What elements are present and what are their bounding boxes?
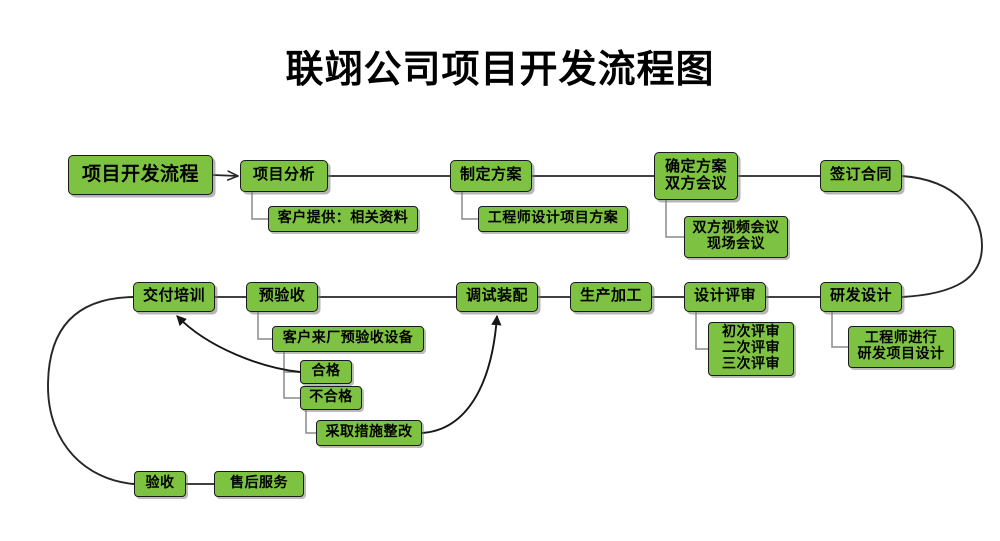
- node-root[interactable]: 项目开发流程: [68, 155, 213, 195]
- node-rnd-design[interactable]: 研发设计: [820, 282, 902, 312]
- node-debug-assembly[interactable]: 调试装配: [456, 282, 538, 312]
- elbow-confirm-leaf: [666, 200, 684, 237]
- elbow-pass: [284, 352, 300, 372]
- leaf-customer-onsite-pre-acceptance[interactable]: 客户来厂预验收设备: [272, 326, 424, 352]
- wire-rectify-to-assembly: [422, 316, 497, 433]
- elbow-rnd-leaf: [832, 312, 848, 347]
- node-project-analysis[interactable]: 项目分析: [240, 160, 328, 192]
- leaf-engineer-rnd-project-design[interactable]: 工程师进行 研发项目设计: [848, 326, 954, 368]
- elbow-fail: [284, 372, 300, 398]
- flowchart-canvas: 联翊公司项目开发流程图: [0, 0, 1000, 541]
- leaf-take-corrective-action[interactable]: 采取措施整改: [316, 420, 422, 446]
- node-sign-contract[interactable]: 签订合同: [820, 160, 902, 192]
- leaf-video-and-onsite-meeting[interactable]: 双方视频会议 现场会议: [684, 216, 788, 258]
- node-confirm-plan-meeting[interactable]: 确定方案 双方会议: [654, 152, 738, 200]
- leaf-customer-provides-materials[interactable]: 客户提供：相关资料: [268, 206, 418, 232]
- node-pre-acceptance[interactable]: 预验收: [246, 282, 318, 312]
- leaf-engineer-designs-plan[interactable]: 工程师设计项目方案: [478, 206, 628, 232]
- node-production-processing[interactable]: 生产加工: [570, 282, 652, 312]
- wire-right-loop: [902, 176, 982, 297]
- node-design-review[interactable]: 设计评审: [684, 282, 766, 312]
- node-final-acceptance[interactable]: 验收: [134, 471, 186, 497]
- leaf-pass[interactable]: 合格: [300, 360, 352, 384]
- wire-root-to-analysis: [213, 175, 238, 176]
- node-delivery-training[interactable]: 交付培训: [133, 282, 215, 312]
- elbow-analysis-leaf: [252, 192, 268, 219]
- leaf-review-rounds[interactable]: 初次评审 二次评审 三次评审: [708, 322, 794, 376]
- node-make-plan[interactable]: 制定方案: [450, 160, 532, 192]
- leaf-fail[interactable]: 不合格: [300, 386, 362, 410]
- elbow-rectify: [306, 410, 316, 433]
- elbow-plan-leaf: [462, 192, 478, 219]
- elbow-review-leaf: [696, 312, 708, 349]
- elbow-preaccept-leaf: [258, 312, 272, 339]
- wire-left-loop: [48, 297, 134, 484]
- node-after-sales-service[interactable]: 售后服务: [214, 471, 304, 497]
- page-title: 联翊公司项目开发流程图: [0, 38, 1000, 93]
